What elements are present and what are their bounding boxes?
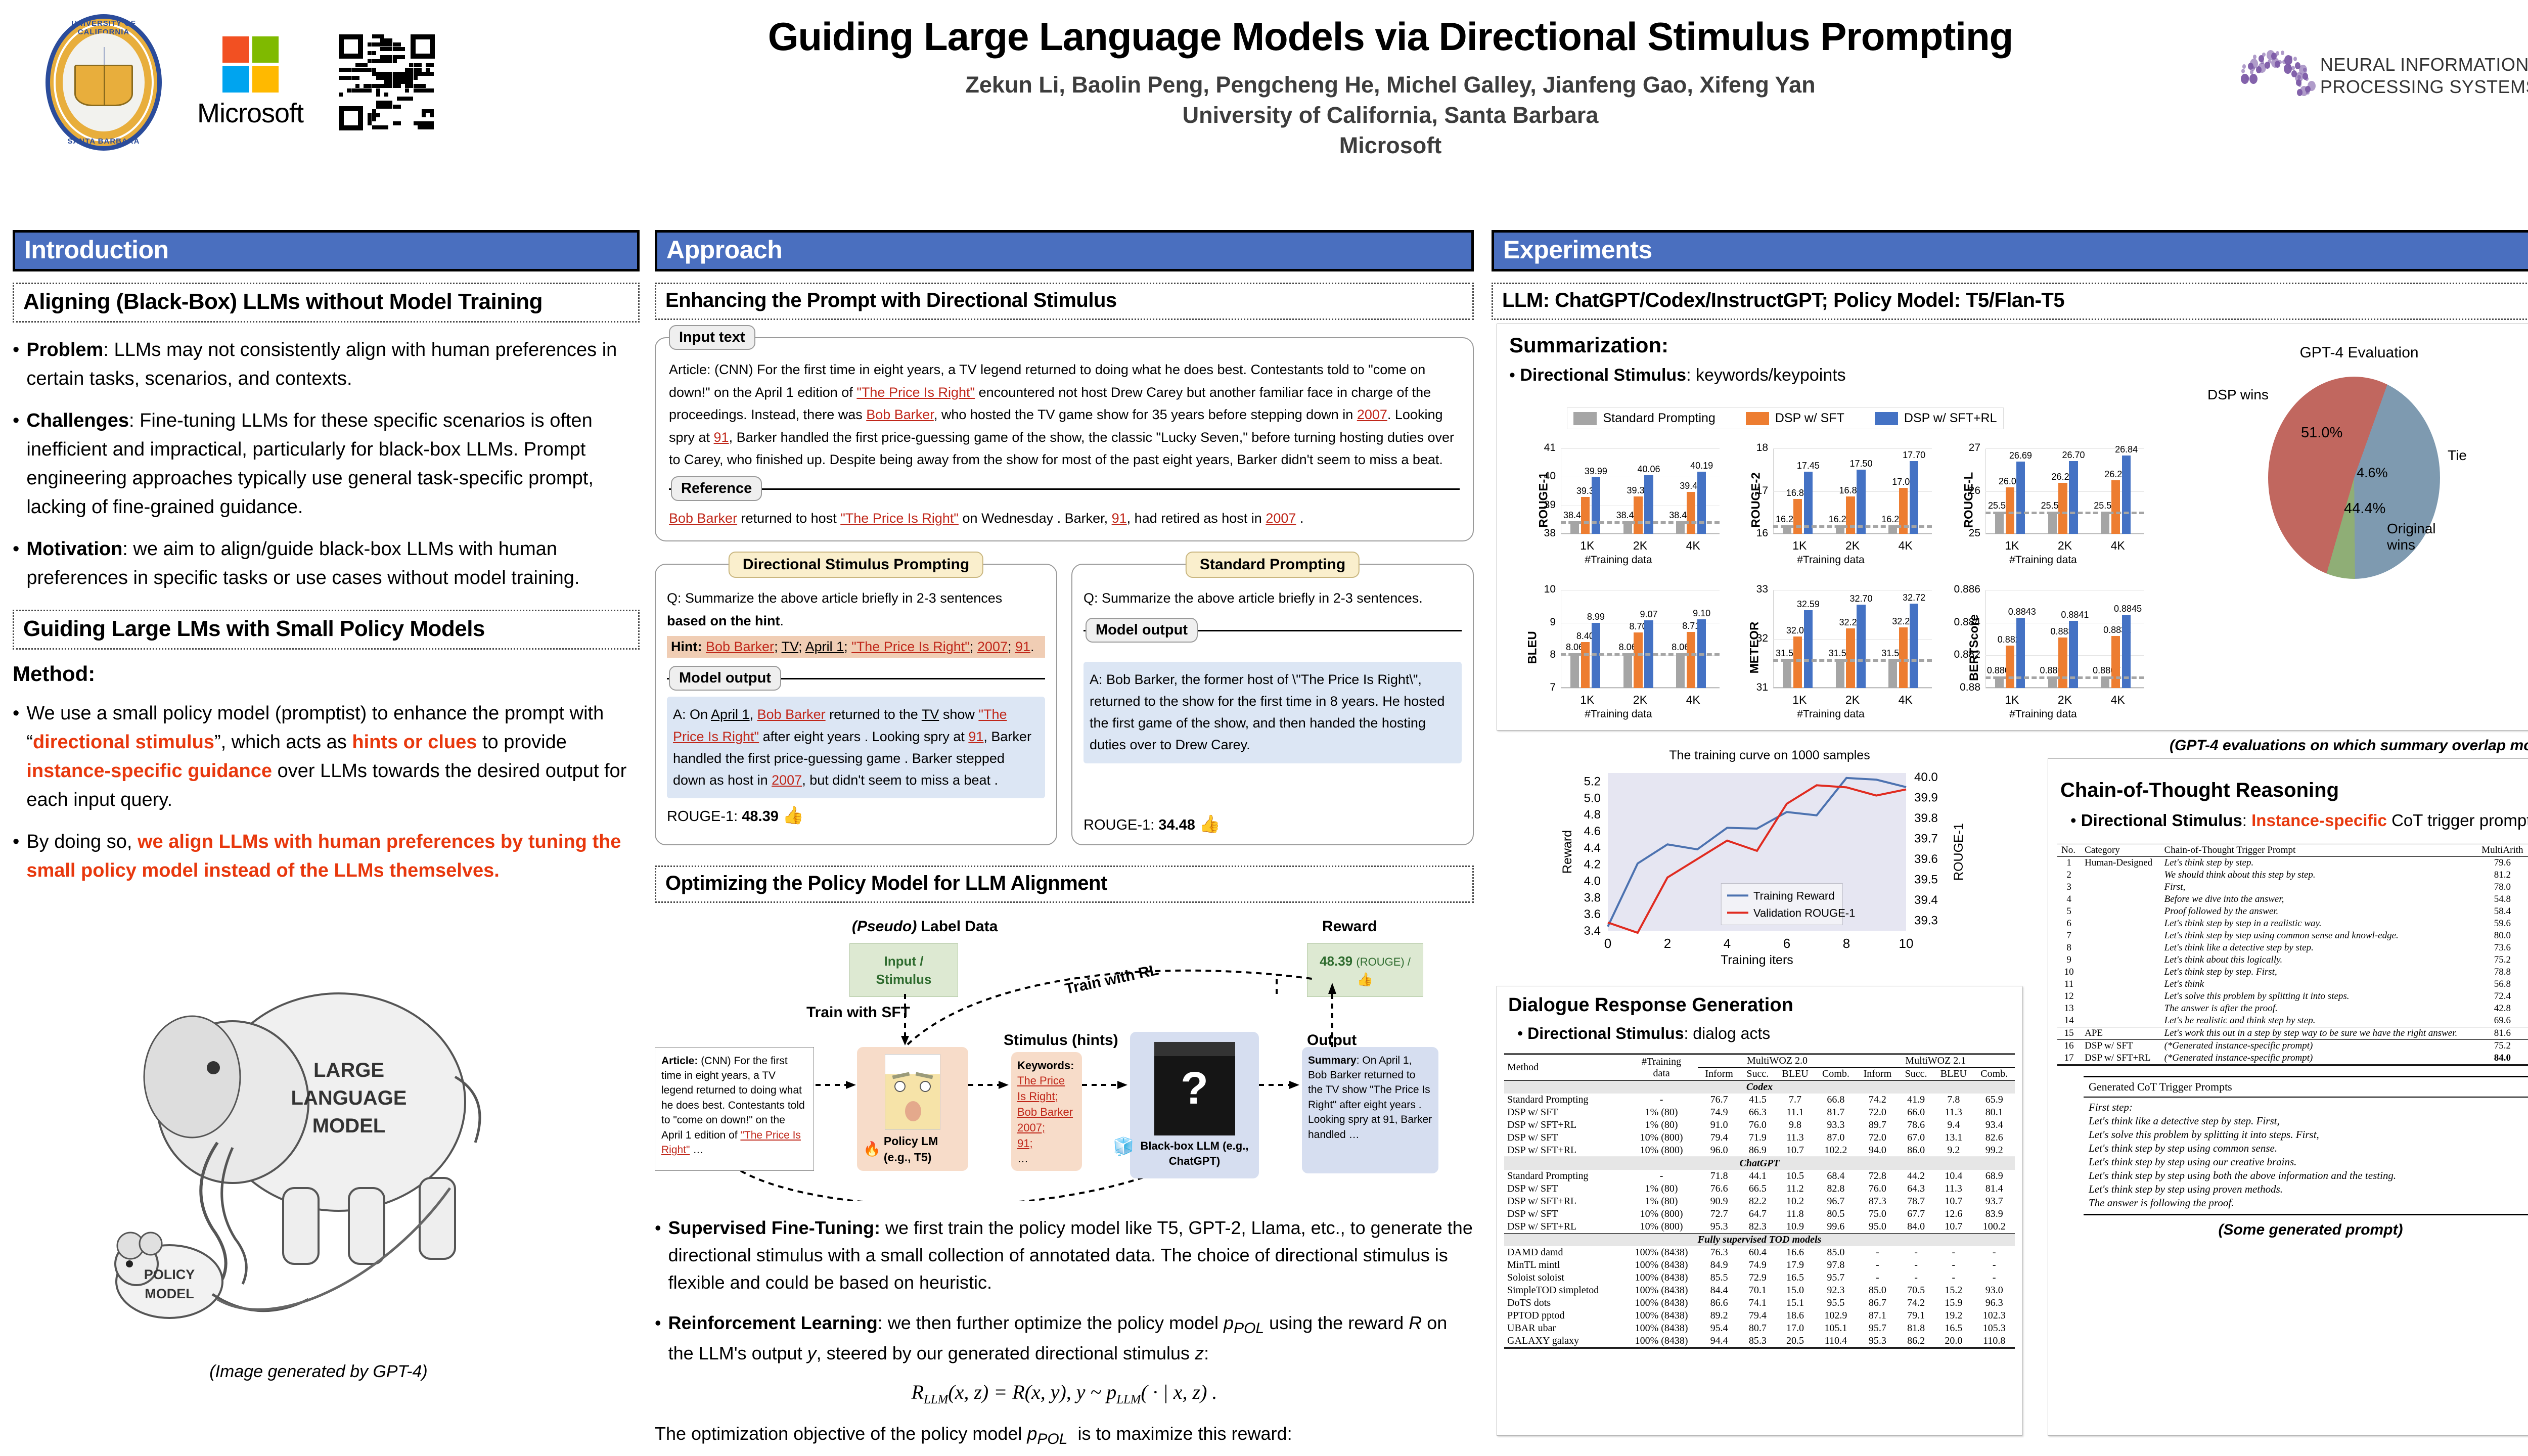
- method-bullet-1: • We use a small policy model (promptist…: [13, 699, 640, 814]
- dlg-cell-2-5-2: 89.2: [1698, 1309, 1740, 1322]
- panel-cot: Chain-of-Thought Reasoning • Directional…: [2048, 758, 2528, 1436]
- tc-xlabel: Training iters: [1721, 953, 1793, 967]
- dlg-cell-2-5-7: 79.1: [1899, 1309, 1933, 1322]
- dlg-cell-2-0-4: 16.6: [1775, 1246, 1815, 1259]
- table-row: 8Let's think like a detective step by st…: [2057, 942, 2528, 954]
- gridline-0: [1561, 688, 1720, 689]
- dlg-cell-0-2-6: 89.7: [1857, 1119, 1899, 1131]
- poster-root: UNIVERSITY OF CALIFORNIA SANTA BARBARA M…: [0, 0, 2528, 1456]
- dsp-hint-label: Hint:: [671, 639, 706, 654]
- dlg-cell-1-1-4: 11.2: [1775, 1182, 1815, 1195]
- dlg-cell-0-2-1: 1% (80): [1625, 1119, 1698, 1131]
- dlg-cell-1-3-1: 10% (800): [1625, 1208, 1698, 1220]
- dlg-cell-0-1-3: 66.3: [1740, 1106, 1775, 1119]
- legend-item-1: DSP w/ SFT: [1746, 411, 1844, 426]
- bullet-dot-icon: •: [13, 406, 19, 522]
- pipeline-policy-label: Policy LM (e.g., T5): [884, 1133, 962, 1165]
- generated-cot-line-6: Let's think step by step using proven me…: [2084, 1182, 2528, 1196]
- thumbs-up-icon: 👍: [783, 806, 804, 825]
- dlg-cell-2-2-4: 16.5: [1775, 1271, 1815, 1284]
- cot-cat-15: DSP w/ SFT: [2081, 1039, 2160, 1052]
- gpt4-evaluation-block: GPT-4 Evaluation DSP wins Tie Original w…: [2159, 344, 2528, 777]
- dlg-cell-1-0-8: 10.4: [1933, 1170, 1973, 1182]
- cot-prompt-16: (*Generated instance-specific prompt): [2160, 1052, 2476, 1065]
- table-row: DSP w/ SFT+RL10% (800)96.086.910.7102.29…: [1504, 1144, 2015, 1157]
- dlg-cell-0-2-4: 9.8: [1775, 1119, 1815, 1131]
- summarization-bullet-lead: Directional Stimulus: [1520, 366, 1686, 385]
- dlg-subcol-7: Comb.: [1973, 1068, 2015, 1081]
- tc-y2tick-3: 39.6: [1914, 852, 1938, 866]
- dsp-q-plain: Q: Summarize the above article briefly i…: [667, 590, 1002, 606]
- tc-xtick-5: 10: [1899, 936, 1914, 951]
- intro-bullet-problem: • Problem: LLMs may not consistently ali…: [13, 336, 640, 393]
- tc-ytick-0: 3.4: [1584, 924, 1601, 938]
- table-row: DAMD damd100% (8438)76.360.416.685.0----: [1504, 1246, 2015, 1259]
- text-span-2: TV: [782, 639, 799, 654]
- dlg-cell-2-0-6: -: [1857, 1246, 1899, 1259]
- pipeline-policy-model-box: 🔥 Policy LM (e.g., T5): [857, 1047, 968, 1171]
- generated-cot-line-2: Let's solve this problem by splitting it…: [2084, 1128, 2528, 1142]
- dlg-cell-2-2-6: -: [1857, 1271, 1899, 1284]
- gridline-0: [1985, 534, 2144, 534]
- dlg-subcol-4: Inform: [1857, 1068, 1899, 1081]
- dlg-cell-2-1-7: -: [1899, 1259, 1933, 1271]
- pipeline-blackbox-label: Black-box LLM (e.g., ChatGPT): [1136, 1139, 1253, 1170]
- dlg-cell-0-4-0: DSP w/ SFT+RL: [1504, 1144, 1625, 1157]
- cot-no-16: 17: [2057, 1052, 2081, 1065]
- baseline-dashed-line: [1985, 512, 2144, 514]
- dlg-cell-1-3-7: 67.7: [1899, 1208, 1933, 1220]
- ucsb-seal-bottom-text: SANTA BARBARA: [46, 137, 162, 146]
- dlg-cell-2-3-0: SimpleTOD simpletod: [1504, 1284, 1625, 1297]
- dlg-cell-0-4-4: 10.7: [1775, 1144, 1815, 1157]
- method-bullet-2: • By doing so, we align LLMs with human …: [13, 828, 640, 885]
- text-span-11: .: [1030, 639, 1034, 654]
- bullet-text-problem: : LLMs may not consistently align with h…: [26, 339, 617, 389]
- dlg-cell-0-4-1: 10% (800): [1625, 1144, 1698, 1157]
- standard-prompt-card: Standard Prompting Q: Summarize the abov…: [1071, 564, 1474, 845]
- bar-1-2: [1687, 492, 1695, 534]
- cot-prompt-14: Let's work this out in a step by step wa…: [2160, 1027, 2476, 1039]
- chart-legend: Standard PromptingDSP w/ SFTDSP w/ SFT+R…: [1525, 407, 2046, 429]
- cot-multiarith-2: 78.0: [2476, 881, 2528, 893]
- dlg-subcol-0: Inform: [1698, 1068, 1740, 1081]
- dlg-cell-2-6-3: 80.7: [1740, 1322, 1775, 1335]
- neurips-logo: NEURAL INFORMATION PROCESSING SYSTEMS: [2235, 35, 2528, 116]
- cot-results-table: No.CategoryChain-of-Thought Trigger Prom…: [2057, 843, 2528, 1067]
- dlg-cell-1-2-3: 82.2: [1740, 1195, 1775, 1208]
- dlg-cell-2-3-3: 70.1: [1740, 1284, 1775, 1297]
- y-axis-label: ROUGE-L: [1962, 472, 1976, 528]
- x-tick-1: 2K: [2039, 539, 2092, 553]
- tc-ytick-2: 3.8: [1584, 891, 1601, 904]
- pipeline-article-tail: …: [690, 1144, 703, 1156]
- cot-cat-6: [2081, 930, 2160, 942]
- bar-value-2-2: 32.72: [1902, 593, 1926, 603]
- dlg-cell-1-2-1: 1% (80): [1625, 1195, 1698, 1208]
- dlg-cell-1-0-6: 72.8: [1857, 1170, 1899, 1182]
- text-span-6: show: [939, 707, 978, 722]
- dlg-cell-1-0-3: 44.1: [1740, 1170, 1775, 1182]
- dlg-cell-2-7-3: 85.3: [1740, 1335, 1775, 1348]
- bar-value-2-0: 17.45: [1796, 461, 1821, 471]
- m2-part-a: By doing so,: [26, 831, 138, 852]
- dlg-cell-1-2-9: 93.7: [1973, 1195, 2015, 1208]
- pipeline-keyword-0: The Price Is Right;: [1017, 1073, 1076, 1105]
- bar-1-0: [1581, 642, 1590, 688]
- cot-prompt-15: (*Generated instance-specific prompt): [2160, 1039, 2476, 1052]
- dlg-cell-1-1-6: 76.0: [1857, 1182, 1899, 1195]
- x-axis-title: #Training data: [1512, 554, 1725, 566]
- x-axis-title: #Training data: [1725, 708, 1937, 720]
- dlg-cell-1-3-4: 11.8: [1775, 1208, 1815, 1220]
- dlg-cell-1-2-4: 10.2: [1775, 1195, 1815, 1208]
- generated-cot-lines: First step:Let's think like a detective …: [2084, 1098, 2528, 1214]
- text-span-3: Bob Barker: [757, 707, 826, 722]
- cot-prompt-7: Let's think like a detective step by ste…: [2160, 942, 2476, 954]
- table-row: SimpleTOD simpletod100% (8438)84.470.115…: [1504, 1284, 2015, 1297]
- dsp-rouge-line: ROUGE-1: 48.39 👍: [667, 805, 1045, 826]
- table-row: 11Let's think56.838.2: [2057, 978, 2528, 990]
- bullet-lead-motivation: Motivation: [26, 538, 122, 560]
- training-curve-chart: The training curve on 1000 samples 3.43.…: [1547, 748, 1992, 976]
- approach-bullet-rl: • Reinforcement Learning: we then furthe…: [655, 1309, 1474, 1367]
- x-tick-2: 4K: [2091, 693, 2144, 707]
- generated-cot-box: Generated CoT Trigger Prompts First step…: [2084, 1076, 2528, 1215]
- dlg-subcol-2: BLEU: [1775, 1068, 1815, 1081]
- dialogue-results-table-wrapper: Method#TrainingdataMultiWOZ 2.0MultiWOZ …: [1497, 1043, 2022, 1350]
- bar-1-0: [2006, 646, 2014, 688]
- bullet-dot-icon: •: [13, 828, 19, 885]
- pipeline-blackbox-llm: ? Black-box LLM (e.g., ChatGPT) 🧊: [1130, 1032, 1259, 1178]
- pipeline-chip-input-stimulus: Input / Stimulus: [849, 943, 958, 997]
- text-span-4: returned to the: [826, 707, 922, 722]
- text-span-6: 2007: [1266, 511, 1296, 526]
- y-tick-2: 0.884: [1949, 616, 1980, 628]
- std-rouge-line: ROUGE-1: 34.48 👍: [1084, 814, 1462, 834]
- y-tick-3: 0.886: [1949, 583, 1980, 596]
- cot-no-2: 3: [2057, 881, 2081, 893]
- x-tick-2: 4K: [1666, 693, 1720, 707]
- dlg-cell-2-2-5: 95.7: [1815, 1271, 1856, 1284]
- cot-cat-0: Human-Designed: [2081, 856, 2160, 869]
- cot-no-1: 2: [2057, 869, 2081, 881]
- bar-1-2: [1687, 632, 1695, 688]
- gridline-2: [1773, 590, 1932, 590]
- y-tick-0: 31: [1737, 681, 1768, 694]
- y-axis-label: ROUGE-2: [1749, 472, 1764, 527]
- pipeline-reward-value: 48.39: [1320, 953, 1352, 969]
- table-row: UBAR ubar100% (8438)95.480.717.0105.195.…: [1504, 1322, 2015, 1335]
- bar-0-0: [1783, 659, 1791, 688]
- training-curve-plot: 3.43.63.84.04.24.44.64.85.05.239.339.439…: [1547, 766, 1992, 971]
- pipeline-keyword-2: 2007;: [1017, 1120, 1076, 1136]
- cot-cat-8: [2081, 954, 2160, 966]
- x-tick-0: 1K: [1985, 693, 2039, 707]
- bar-value-2-2: 17.70: [1902, 450, 1926, 461]
- tc-xtick-2: 4: [1724, 936, 1731, 951]
- dlg-cell-2-7-1: 100% (8438): [1625, 1335, 1698, 1348]
- text-span-12: , but didn't seem to miss a beat .: [802, 772, 998, 788]
- y-tick-1: 17: [1737, 485, 1768, 497]
- dsp-q-bold: based on the hint: [667, 613, 780, 628]
- dlg-cell-1-0-7: 44.2: [1899, 1170, 1933, 1182]
- cot-cat-9: [2081, 966, 2160, 978]
- cot-no-15: 16: [2057, 1039, 2081, 1052]
- cot-prompt-3: Before we dive into the answer,: [2160, 893, 2476, 905]
- dlg-cell-1-4-3: 82.3: [1740, 1220, 1775, 1234]
- dlg-cell-2-6-4: 17.0: [1775, 1322, 1815, 1335]
- pipeline-keywords-label: Keywords:: [1017, 1059, 1074, 1072]
- table-row: 10Let's think step by step. First,78.832…: [2057, 966, 2528, 978]
- logo-group: UNIVERSITY OF CALIFORNIA SANTA BARBARA M…: [46, 14, 435, 151]
- x-tick-1: 2K: [2039, 693, 2092, 707]
- dlg-cell-2-6-6: 95.7: [1857, 1322, 1899, 1335]
- cot-prompt-8: Let's think about this logically.: [2160, 954, 2476, 966]
- bar-2-1: [2069, 461, 2078, 534]
- dlg-cell-0-1-4: 11.1: [1775, 1106, 1815, 1119]
- elephant-text-line2: LANGUAGE: [291, 1087, 407, 1109]
- dlg-cell-1-4-5: 99.6: [1815, 1220, 1856, 1234]
- cot-title: Chain-of-Thought Reasoning: [2060, 779, 2528, 802]
- dlg-cell-0-3-9: 82.6: [1973, 1131, 2015, 1144]
- legend-swatch-2: [1875, 412, 1898, 425]
- pipeline-summary-lead: Summary: [1308, 1055, 1357, 1066]
- y-tick-3: 41: [1524, 442, 1556, 454]
- dlg-cell-0-3-5: 87.0: [1815, 1131, 1856, 1144]
- optimization-objective-text: The optimization objective of the policy…: [655, 1420, 1474, 1450]
- bar-value-2-1: 0.8841: [2061, 610, 2086, 620]
- cot-col-2: Chain-of-Thought Trigger Prompt: [2160, 843, 2476, 856]
- x-axis-title: #Training data: [1725, 554, 1937, 566]
- dlg-cell-2-5-4: 18.6: [1775, 1309, 1815, 1322]
- dlg-cell-0-2-3: 76.0: [1740, 1119, 1775, 1131]
- rl-lead: Reinforcement Learning: [668, 1312, 878, 1333]
- x-tick-1: 2K: [1826, 693, 1879, 707]
- y-axis-label: METEOR: [1747, 622, 1762, 674]
- bar-1-1: [2058, 483, 2067, 534]
- dlg-subcol-6: BLEU: [1933, 1068, 1973, 1081]
- cot-bullet-mid: :: [2242, 811, 2251, 830]
- bar-0-2: [2101, 512, 2109, 534]
- input-text-tag: Input text: [669, 325, 755, 350]
- column-introduction: Introduction Aligning (Black-Box) LLMs w…: [13, 230, 640, 885]
- dlg-cell-2-0-0: DAMD damd: [1504, 1246, 1625, 1259]
- text-span-0: Bob Barker: [706, 639, 774, 654]
- y-tick-0: 0.88: [1949, 681, 1980, 694]
- cot-cat-3: [2081, 893, 2160, 905]
- m1-highlight-instance-specific: instance-specific guidance: [26, 760, 272, 782]
- fire-icon: 🔥: [863, 1139, 881, 1159]
- table-row: DSP w/ SFT1% (80)76.666.511.282.876.064.…: [1504, 1182, 2015, 1195]
- text-span-5: , had retired as host in: [1127, 511, 1266, 526]
- bar-1-2: [2111, 480, 2120, 534]
- table-row: 14Let's be realistic and think step by s…: [2057, 1015, 2528, 1027]
- dlg-cell-2-5-9: 102.3: [1973, 1309, 2015, 1322]
- pipeline-keyword-1: Bob Barker: [1017, 1105, 1076, 1120]
- dlg-cell-1-4-0: DSP w/ SFT+RL: [1504, 1220, 1625, 1234]
- bar-2-1: [1857, 605, 1865, 688]
- neurips-line-2: PROCESSING SYSTEMS: [2320, 76, 2528, 98]
- gridline-0: [1773, 534, 1932, 534]
- baseline-dashed-line: [1561, 521, 1720, 524]
- text-span-1: returned to host: [737, 511, 840, 526]
- affiliation-primary: University of California, Santa Barbara: [581, 102, 2199, 128]
- x-tick-0: 1K: [1561, 539, 1614, 553]
- gridline-3: [1985, 590, 2144, 590]
- x-tick-0: 1K: [1985, 539, 2039, 553]
- panel-dialogue: Dialogue Response Generation • Direction…: [1497, 986, 2022, 1436]
- y-tick-0: 7: [1524, 681, 1556, 694]
- bar-1-1: [2058, 638, 2067, 688]
- pipeline-reward-unit: (ROUGE) /: [1356, 955, 1411, 968]
- dlg-cell-1-4-2: 95.3: [1698, 1220, 1740, 1234]
- approach-bullet-sft: • Supervised Fine-Tuning: we first train…: [655, 1214, 1474, 1296]
- table-row: 13The answer is after the proof.42.834.3: [2057, 1003, 2528, 1015]
- generated-cot-line-0: First step:: [2084, 1101, 2528, 1114]
- bar-charts-row-1: ROUGE-13839404138.4539.339.991K38.4539.3…: [1512, 430, 2149, 569]
- y-tick-2: 40: [1524, 470, 1556, 482]
- intro-bullet-motivation: • Motivation: we aim to align/guide blac…: [13, 535, 640, 593]
- m1-part-b: ”, which acts as: [214, 732, 352, 753]
- cot-prompt-5: Let's think step by step in a realistic …: [2160, 918, 2476, 930]
- elephant-text-line3: MODEL: [312, 1115, 385, 1137]
- dlg-cell-2-5-3: 79.4: [1740, 1309, 1775, 1322]
- dlg-cell-2-6-1: 100% (8438): [1625, 1322, 1698, 1335]
- thumbs-down-icon: 👍: [1199, 814, 1221, 834]
- x-axis-title: #Training data: [1937, 708, 2149, 720]
- bar-2-2: [2122, 456, 2131, 534]
- cot-no-6: 7: [2057, 930, 2081, 942]
- gridline-3: [1561, 448, 1720, 449]
- dlg-cell-1-1-3: 66.5: [1740, 1182, 1775, 1195]
- dlg-cell-2-2-9: -: [1973, 1271, 2015, 1284]
- bar-2-0: [1592, 477, 1600, 534]
- dlg-cell-1-4-8: 10.7: [1933, 1220, 1973, 1234]
- poster-header: UNIVERSITY OF CALIFORNIA SANTA BARBARA M…: [0, 0, 2528, 217]
- reference-tag: Reference: [671, 476, 762, 501]
- qr-code-icon[interactable]: [339, 34, 435, 130]
- affiliation-secondary: Microsoft: [581, 132, 2199, 159]
- cot-multiarith-16: 84.0: [2476, 1052, 2528, 1065]
- dlg-cell-2-6-5: 105.1: [1815, 1322, 1856, 1335]
- dlg-cell-1-0-9: 68.9: [1973, 1170, 2015, 1182]
- tc-y2tick-6: 39.9: [1914, 791, 1938, 805]
- panel-summarization: Summarization: • Directional Stimulus: k…: [1497, 324, 2528, 731]
- table-row: 16DSP w/ SFT(*Generated instance-specifi…: [2057, 1039, 2528, 1052]
- tc-ytick-5: 4.4: [1584, 841, 1601, 855]
- cot-multiarith-14: 81.6: [2476, 1027, 2528, 1039]
- cot-cat-2: [2081, 881, 2160, 893]
- pipeline-stimulus-label: Stimulus (hints): [1004, 1032, 1118, 1049]
- tc-y2tick-7: 40.0: [1914, 770, 1938, 784]
- dlg-cell-2-1-8: -: [1933, 1259, 1973, 1271]
- cot-bullet-lead: Directional Stimulus: [2081, 811, 2242, 830]
- dlg-cell-2-6-9: 105.3: [1973, 1322, 2015, 1335]
- dlg-cell-1-3-8: 12.6: [1933, 1208, 1973, 1220]
- bar-1-2: [2111, 636, 2120, 688]
- y-tick-1: 0.882: [1949, 649, 1980, 661]
- table-row: 6Let's think step by step in a realistic…: [2057, 918, 2528, 930]
- cot-prompt-10: Let's think: [2160, 978, 2476, 990]
- dlg-cell-2-0-3: 60.4: [1740, 1246, 1775, 1259]
- elephant-mouse-image: LARGE LANGUAGE MODEL POLICY MODEL: [66, 950, 571, 1360]
- bar-0-2: [1888, 659, 1897, 688]
- cot-prompt-4: Proof followed by the answer.: [2160, 905, 2476, 918]
- text-span-3: Bob Barker: [866, 407, 934, 422]
- dlg-col-training: #Trainingdata: [1625, 1054, 1698, 1081]
- dlg-cell-2-7-5: 110.4: [1815, 1335, 1856, 1348]
- dlg-section-0: Codex: [1504, 1081, 2015, 1094]
- std-question: Q: Summarize the above article briefly i…: [1084, 587, 1462, 610]
- cot-cat-5: [2081, 918, 2160, 930]
- x-tick-0: 1K: [1561, 693, 1614, 707]
- dlg-cell-2-3-8: 15.2: [1933, 1284, 1973, 1297]
- table-row: PPTOD pptod100% (8438)89.279.418.6102.98…: [1504, 1309, 2015, 1322]
- pie-label-dsp-wins: DSP wins: [2207, 387, 2269, 403]
- section-band-introduction: Introduction: [13, 230, 640, 271]
- dlg-cell-0-3-8: 13.1: [1933, 1131, 1973, 1144]
- y-tick-2: 9: [1524, 616, 1556, 628]
- baseline-dashed-line: [1773, 659, 1932, 662]
- pie-label-original-wins: Original wins: [2387, 521, 2450, 553]
- dlg-cell-0-2-7: 78.6: [1899, 1119, 1933, 1131]
- text-span-5: 2007: [1357, 407, 1387, 422]
- dlg-cell-2-3-7: 70.5: [1899, 1284, 1933, 1297]
- dsp-q-end: .: [780, 613, 784, 628]
- dlg-cell-2-4-3: 74.1: [1740, 1297, 1775, 1309]
- cot-prompt-9: Let's think step by step. First,: [2160, 966, 2476, 978]
- dlg-cell-0-4-7: 86.0: [1899, 1144, 1933, 1157]
- dlg-cell-0-0-8: 7.8: [1933, 1094, 1973, 1106]
- cot-no-4: 5: [2057, 905, 2081, 918]
- table-row: 12Let's solve this problem by splitting …: [2057, 990, 2528, 1003]
- bar-1-0: [2006, 487, 2014, 534]
- dlg-cell-2-0-8: -: [1933, 1246, 1973, 1259]
- tc-ytick-4: 4.2: [1584, 858, 1601, 872]
- y-tick-1: 26: [1949, 485, 1980, 497]
- elephant-illustration-block: LARGE LANGUAGE MODEL POLICY MODEL (Image…: [46, 950, 592, 1382]
- microsoft-wordmark: Microsoft: [197, 98, 303, 129]
- dlg-cell-0-0-6: 74.2: [1857, 1094, 1899, 1106]
- bullet-dot-icon: •: [13, 699, 19, 814]
- text-span-2: "The Price Is Right": [840, 511, 959, 526]
- dlg-subcol-1: Succ.: [1740, 1068, 1775, 1081]
- dlg-cell-2-3-6: 85.0: [1857, 1284, 1899, 1297]
- y-tick-0: 16: [1737, 527, 1768, 539]
- text-span-1: April 1: [711, 707, 750, 722]
- cot-multiarith-11: 72.4: [2476, 990, 2528, 1003]
- legend-item-2: DSP w/ SFT+RL: [1875, 411, 1997, 426]
- dialogue-results-table: Method#TrainingdataMultiWOZ 2.0MultiWOZ …: [1504, 1053, 2015, 1350]
- cot-multiarith-6: 80.0: [2476, 930, 2528, 942]
- dialogue-bullet-lead: Directional Stimulus: [1527, 1024, 1684, 1042]
- text-span-5: ;: [844, 639, 851, 654]
- cot-no-14: 15: [2057, 1027, 2081, 1039]
- dlg-cell-0-2-5: 93.3: [1815, 1119, 1856, 1131]
- cot-no-9: 10: [2057, 966, 2081, 978]
- cot-multiarith-15: 75.2: [2476, 1039, 2528, 1052]
- cot-cat-14: APE: [2081, 1027, 2160, 1039]
- dsp-prompt-card: Directional Stimulus Prompting Q: Summar…: [655, 564, 1057, 845]
- dlg-cell-0-0-4: 7.7: [1775, 1094, 1815, 1106]
- legend-swatch-1: [1746, 412, 1769, 425]
- dlg-cell-0-3-2: 79.4: [1698, 1131, 1740, 1144]
- bar-1-1: [1634, 632, 1642, 688]
- dlg-section-1: ChatGPT: [1504, 1157, 2015, 1170]
- generated-cot-line-5: Let's think step by step using both the …: [2084, 1169, 2528, 1182]
- pipeline-label-reward: Reward: [1322, 918, 1377, 935]
